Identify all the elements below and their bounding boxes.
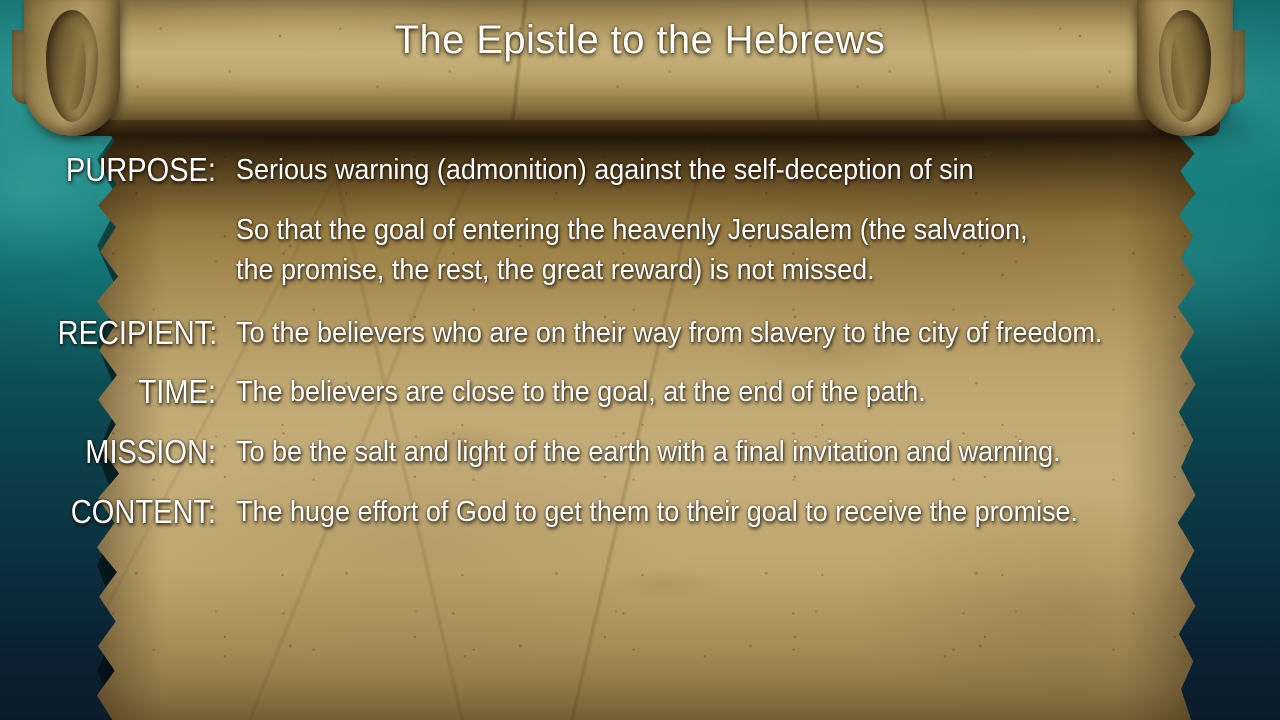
row-value-goal-line2: the promise, the rest, the great reward)… xyxy=(236,250,1028,290)
row-value-content: The huge effort of God to get them to th… xyxy=(236,492,1078,532)
row-label-purpose: PURPOSE: xyxy=(58,150,216,190)
slide-canvas: The Epistle to the Hebrews PURPOSE: Seri… xyxy=(0,0,1280,720)
parchment-side-shading xyxy=(88,104,1200,720)
scroll-sheet xyxy=(0,104,1280,720)
list-item: So that the goal of entering the heavenl… xyxy=(36,210,1087,290)
roll-lower-lip xyxy=(56,120,1220,136)
row-label-content: CONTENT: xyxy=(58,492,216,532)
list-item: RECIPIENT: To the believers who are on t… xyxy=(36,313,1168,353)
list-item: CONTENT: The huge effort of God to get t… xyxy=(36,492,1141,532)
row-label-recipient: RECIPIENT: xyxy=(58,313,216,353)
page-title: The Epistle to the Hebrews xyxy=(0,18,1280,63)
parchment-bottom-shading xyxy=(88,570,1200,720)
row-label-time: TIME: xyxy=(58,372,216,412)
parchment-cracks xyxy=(88,104,1200,720)
parchment-body xyxy=(88,104,1200,720)
parchment-texture xyxy=(88,104,1200,720)
row-value-goal: So that the goal of entering the heavenl… xyxy=(236,210,1028,290)
row-value-goal-line1: So that the goal of entering the heavenl… xyxy=(236,214,1028,246)
row-label-mission: MISSION: xyxy=(58,432,216,472)
list-item: TIME: The believers are close to the goa… xyxy=(36,372,978,412)
row-value-purpose: Serious warning (admonition) against the… xyxy=(236,150,974,190)
list-item: PURPOSE: Serious warning (admonition) ag… xyxy=(36,150,1029,190)
list-item: MISSION: To be the salt and light of the… xyxy=(36,432,1123,472)
row-value-recipient: To the believers who are on their way fr… xyxy=(236,313,1102,353)
row-value-mission: To be the salt and light of the earth wi… xyxy=(236,432,1061,472)
row-value-time: The believers are close to the goal, at … xyxy=(236,372,926,412)
